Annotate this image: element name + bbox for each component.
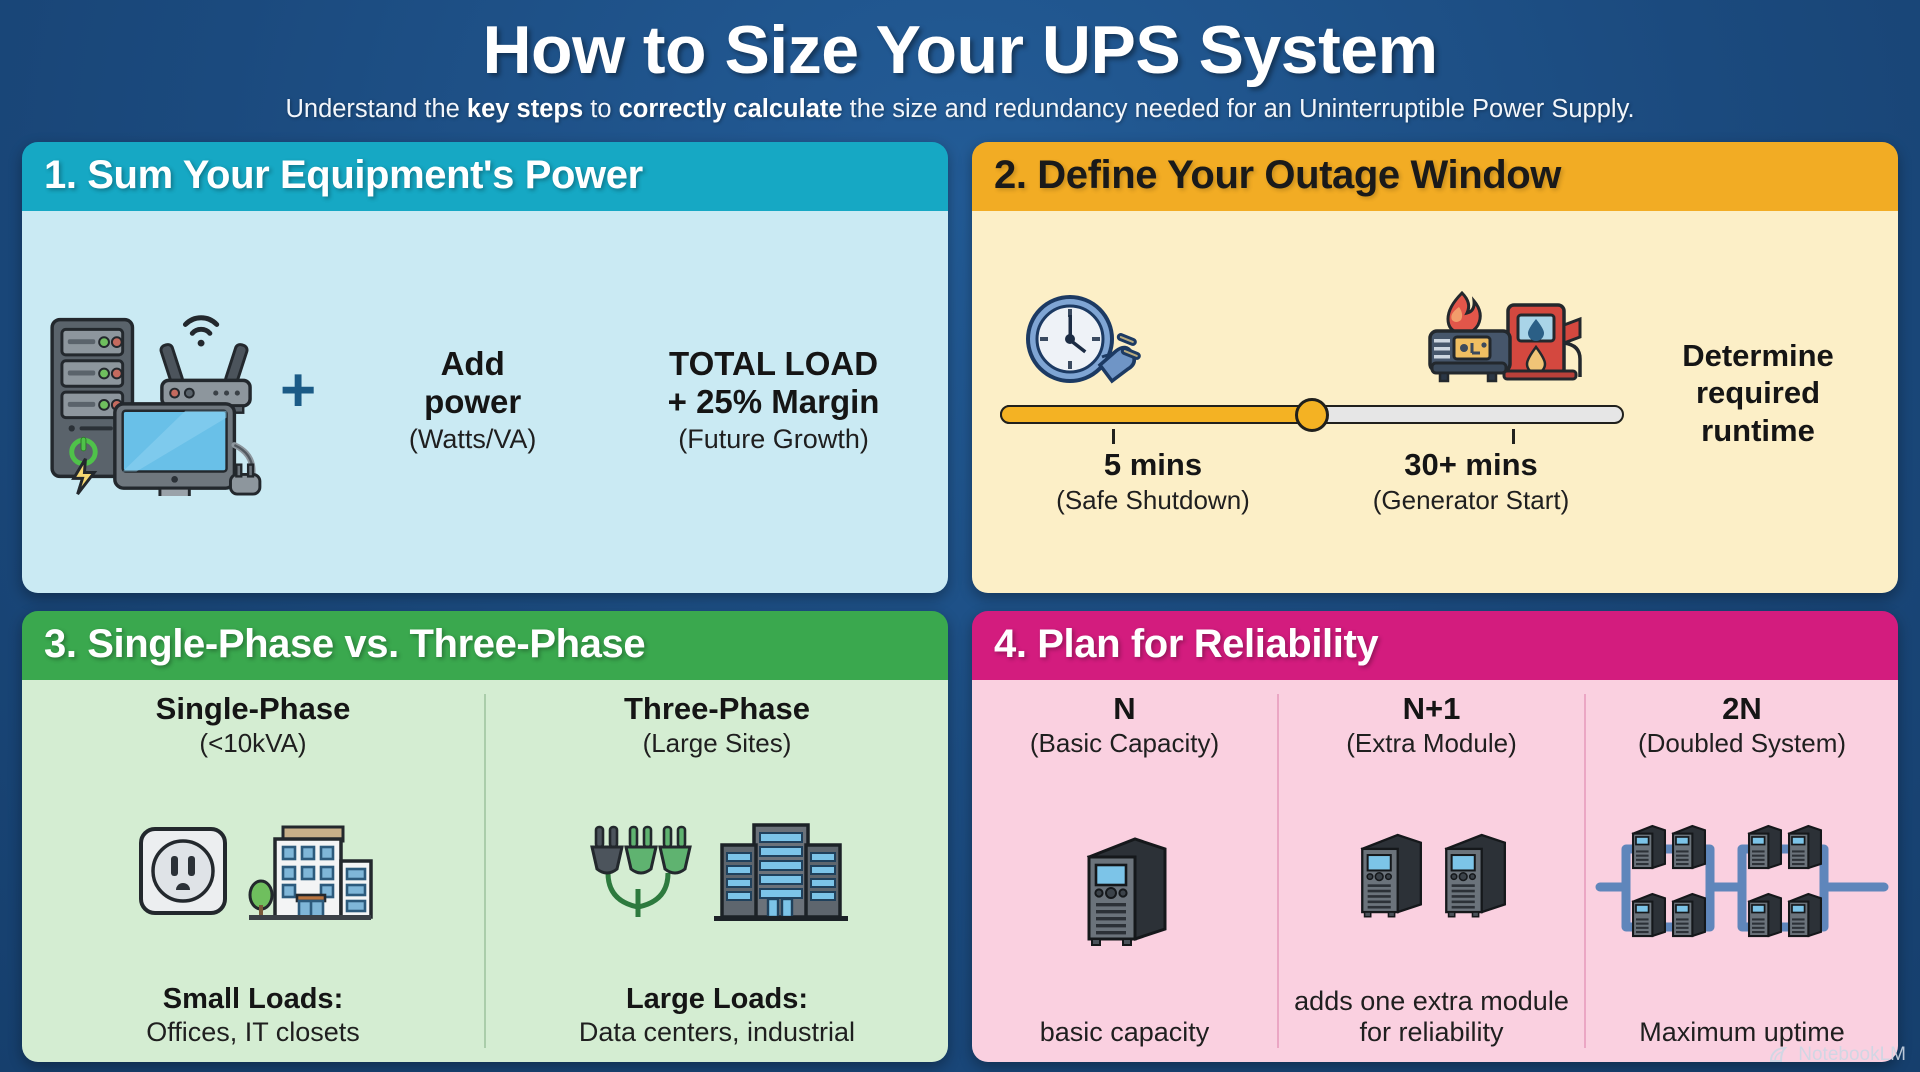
n-illustration	[1077, 827, 1173, 947]
wifi-router-icon	[160, 317, 250, 412]
single-phase-head: Single-Phase	[156, 692, 351, 727]
card2-title: 2. Define Your Outage Window	[972, 142, 1898, 211]
ups-tower-icon	[1077, 827, 1173, 947]
generator-fuel-pump-icon	[1426, 285, 1604, 393]
data-center-building-icon	[710, 819, 852, 923]
card1-body: + Add power (Watts/VA) TOTAL LOAD + 25% …	[22, 211, 948, 593]
n-head: N	[1030, 692, 1219, 727]
twon-head: 2N	[1638, 692, 1846, 727]
total-load-line1: TOTAL LOAD	[669, 345, 878, 382]
slider-ticks	[1000, 429, 1624, 445]
slider-fill	[1000, 405, 1312, 424]
card2-icons-row	[994, 285, 1630, 397]
ups-cluster-icon	[1592, 817, 1892, 957]
notebooklm-icon	[1769, 1046, 1791, 1064]
card4-title: 4. Plan for Reliability	[972, 611, 1898, 680]
clock-plug-icon	[1012, 285, 1144, 393]
page-header: How to Size Your UPS System Understand t…	[22, 14, 1898, 124]
runtime-slider[interactable]	[1000, 399, 1624, 429]
card1-block-total-load: TOTAL LOAD + 25% Margin (Future Growth)	[625, 345, 922, 455]
n1-illustration	[1353, 822, 1511, 922]
label-30-mins: 30+ mins	[1312, 447, 1630, 483]
slider-knob[interactable]	[1295, 398, 1329, 432]
ups-tower-icon	[1353, 822, 1427, 922]
card1-block-add-power: Add power (Watts/VA)	[324, 345, 621, 455]
label-generator-start: (Generator Start)	[1312, 485, 1630, 516]
office-building-icon	[247, 819, 373, 923]
card4-columns: N (Basic Capacity)	[972, 680, 1898, 1062]
n1-head: N+1	[1346, 692, 1517, 727]
wall-outlet-icon	[133, 823, 237, 923]
large-loads-label: Large Loads:	[579, 983, 855, 1016]
column-three-phase: Three-Phase (Large Sites)	[486, 680, 948, 1062]
card-single-vs-three-phase: 3. Single-Phase vs. Three-Phase Single-P…	[22, 611, 948, 1062]
small-loads-detail: Offices, IT closets	[146, 1017, 360, 1048]
column-single-phase: Single-Phase (<10kVA)	[22, 680, 484, 1062]
twon-subhead: (Doubled System)	[1638, 728, 1846, 759]
ups-tower-icon	[1437, 822, 1511, 922]
card4-body: N (Basic Capacity)	[972, 680, 1898, 1062]
n-caption: basic capacity	[1040, 1017, 1210, 1048]
three-plugs-icon	[582, 819, 700, 923]
three-phase-head: Three-Phase	[624, 692, 810, 727]
slider-tick-left	[1112, 429, 1115, 444]
watermark-label: NotebookLM	[1798, 1044, 1906, 1066]
card-sum-equipment-power: 1. Sum Your Equipment's Power	[22, 142, 948, 593]
column-n-plus-1: N+1 (Extra Module)	[1279, 680, 1584, 1062]
add-power-unit: (Watts/VA)	[324, 424, 621, 455]
monitor-icon	[115, 403, 235, 495]
single-phase-illustration	[133, 819, 373, 923]
single-phase-subhead: (<10kVA)	[156, 728, 351, 759]
card3-title: 3. Single-Phase vs. Three-Phase	[22, 611, 948, 680]
card-plan-for-reliability: 4. Plan for Reliability N (Basic Capacit…	[972, 611, 1898, 1062]
n-subhead: (Basic Capacity)	[1030, 728, 1219, 759]
infographic-page: How to Size Your UPS System Understand t…	[0, 0, 1920, 1072]
small-loads-label: Small Loads:	[146, 983, 360, 1016]
card-define-outage-window: 2. Define Your Outage Window	[972, 142, 1898, 593]
add-power-line2: power	[424, 383, 521, 420]
total-load-line2: + 25% Margin	[668, 383, 880, 420]
slider-labels: 5 mins (Safe Shutdown) 30+ mins (Generat…	[994, 447, 1630, 516]
determine-runtime-note: Determine required runtime	[1640, 337, 1876, 463]
n1-subhead: (Extra Module)	[1346, 728, 1517, 759]
n1-caption: adds one extra module for reliability	[1285, 986, 1578, 1048]
label-5-mins: 5 mins	[994, 447, 1312, 483]
slider-tick-right	[1512, 429, 1515, 444]
card3-body: Single-Phase (<10kVA)	[22, 680, 948, 1062]
add-power-line1: Add	[441, 345, 505, 382]
total-load-note: (Future Growth)	[625, 424, 922, 455]
plus-sign: +	[280, 360, 320, 440]
twon-illustration	[1592, 817, 1892, 957]
card3-columns: Single-Phase (<10kVA)	[22, 680, 948, 1062]
cards-grid: 1. Sum Your Equipment's Power	[22, 142, 1898, 1062]
page-subtitle: Understand the key steps to correctly ca…	[22, 95, 1898, 124]
label-safe-shutdown: (Safe Shutdown)	[994, 485, 1312, 516]
slider-label-left: 5 mins (Safe Shutdown)	[994, 447, 1312, 516]
watermark: NotebookLM	[1769, 1044, 1906, 1066]
card1-title: 1. Sum Your Equipment's Power	[22, 142, 948, 211]
page-title: How to Size Your UPS System	[22, 14, 1898, 86]
three-phase-subhead: (Large Sites)	[624, 728, 810, 759]
outage-window-panel: 5 mins (Safe Shutdown) 30+ mins (Generat…	[994, 285, 1630, 516]
slider-label-right: 30+ mins (Generator Start)	[1312, 447, 1630, 516]
three-phase-illustration	[582, 819, 852, 923]
card2-body: 5 mins (Safe Shutdown) 30+ mins (Generat…	[972, 211, 1898, 593]
large-loads-detail: Data centers, industrial	[579, 1017, 855, 1048]
column-2n: 2N (Doubled System)	[1586, 680, 1898, 1062]
column-n: N (Basic Capacity)	[972, 680, 1277, 1062]
equipment-illustration	[36, 300, 276, 501]
